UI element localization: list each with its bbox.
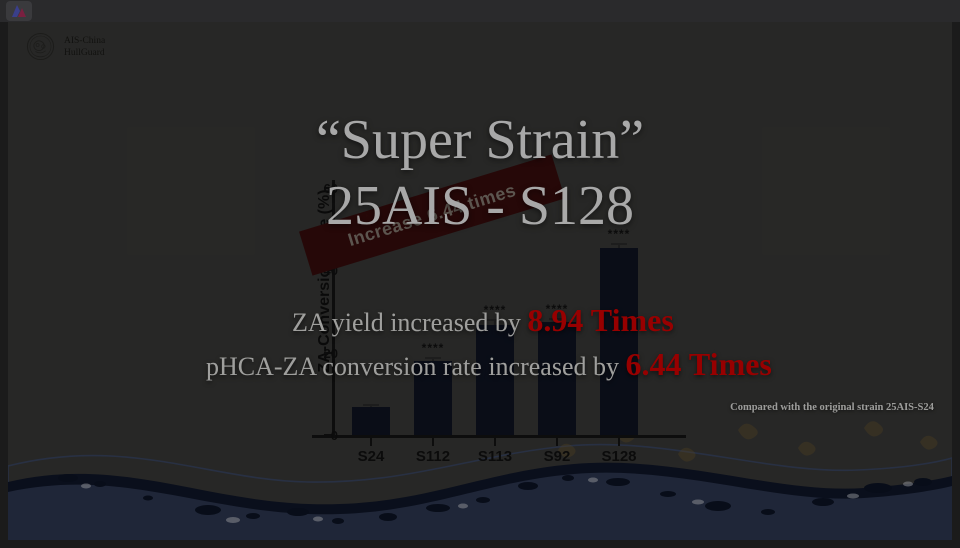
claim-za-yield: ZA yield increased by 8.94 Times: [292, 302, 674, 339]
x-tick-S128: [618, 438, 620, 446]
bar-S24: [352, 407, 390, 435]
slide-canvas: AIS-China HullGuard: [8, 22, 952, 540]
significance-S128: ****: [592, 227, 646, 241]
x-tick-S24: [370, 438, 372, 446]
seal-emblem-icon: [26, 32, 55, 61]
errorcap-S24: [363, 404, 379, 406]
x-label-S92: S92: [525, 448, 589, 465]
x-label-S113: S113: [463, 448, 527, 465]
comparison-footnote: Compared with the original strain 25AIS-…: [712, 402, 952, 413]
x-label-S112: S112: [401, 448, 465, 465]
brand-lockup: AIS-China HullGuard: [26, 32, 105, 61]
claim-2-unit: Times: [681, 346, 771, 382]
y-tick-label-0: 0: [302, 428, 338, 443]
brand-line-2: HullGuard: [64, 47, 105, 59]
errorcap-S128: [611, 243, 627, 245]
y-tick-label-60: 60: [302, 181, 338, 196]
claim-2-prefix: pHCA-ZA conversion rate increased by: [206, 352, 625, 381]
app-window: AIS-China HullGuard: [0, 0, 960, 548]
claim-2-value: 6.44: [625, 346, 681, 382]
claim-1-prefix: ZA yield increased by: [292, 308, 527, 337]
claim-1-value: 8.94: [527, 302, 583, 338]
brand-text: AIS-China HullGuard: [64, 35, 105, 59]
title-bar: [0, 0, 960, 22]
x-label-S128: S128: [587, 448, 651, 465]
x-tick-S112: [432, 438, 434, 446]
claim-phca-conversion: pHCA-ZA conversion rate increased by 6.4…: [206, 346, 772, 383]
bar-S128: [600, 248, 638, 435]
claim-1-unit: Times: [583, 302, 673, 338]
x-tick-S92: [556, 438, 558, 446]
x-tick-S113: [494, 438, 496, 446]
x-label-S24: S24: [339, 448, 403, 465]
brand-line-1: AIS-China: [64, 35, 105, 47]
app-icon[interactable]: [6, 1, 32, 21]
x-axis-line: [312, 435, 686, 438]
